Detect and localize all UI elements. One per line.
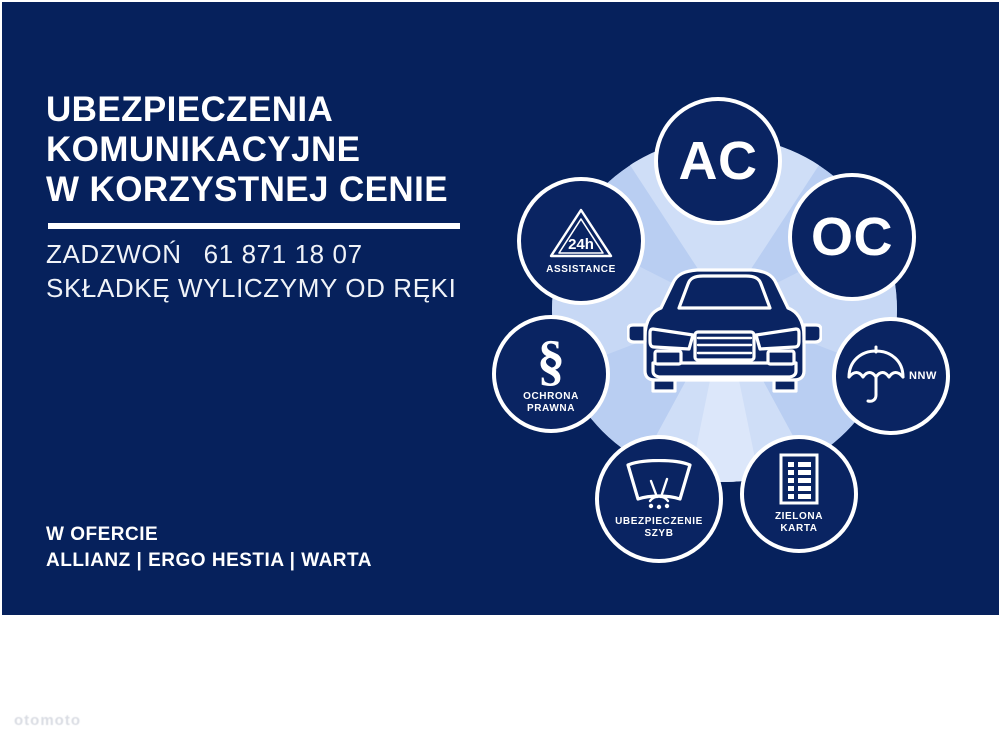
offer-title: W OFERCIE: [46, 522, 372, 548]
wiper-icon: [622, 459, 696, 511]
umbrella-icon: [845, 345, 907, 407]
call-subline: SKŁADKĘ WYLICZYMY OD RĘKI: [46, 271, 506, 305]
node-nnw-label: NNW: [909, 370, 937, 382]
offer-insurers: ALLIANZ | ERGO HESTIA | WARTA: [46, 548, 372, 574]
headline-line-2: KOMUNIKACYJNE: [46, 130, 476, 170]
headline-block: UBEZPIECZENIA KOMUNIKACYJNE W KORZYSTNEJ…: [46, 90, 476, 210]
call-to-action-block: ZADZWOŃ61 871 18 07 SKŁADKĘ WYLICZYMY OD…: [46, 237, 506, 305]
headline-divider: [48, 223, 460, 229]
node-zielona-karta-label-2: KARTA: [780, 523, 817, 535]
node-oc[interactable]: OC: [788, 173, 916, 301]
phone-number[interactable]: 61 871 18 07: [204, 239, 363, 269]
node-zielona-karta[interactable]: ZIELONA KARTA: [740, 435, 858, 553]
headline-line-1: UBEZPIECZENIA: [46, 90, 476, 130]
paragraph-icon: §: [531, 333, 571, 387]
node-nnw[interactable]: NNW: [832, 317, 950, 435]
assistance-inner-text: 24h: [568, 236, 594, 253]
svg-text:§: §: [537, 333, 565, 387]
node-oc-label: OC: [811, 210, 893, 264]
node-ochrona-prawna-label-1: OCHRONA: [523, 391, 579, 403]
node-assistance[interactable]: 24h ASSISTANCE: [517, 177, 645, 305]
node-assistance-label: ASSISTANCE: [546, 264, 616, 276]
hero-panel: UBEZPIECZENIA KOMUNIKACYJNE W KORZYSTNEJ…: [2, 2, 999, 615]
call-label: ZADZWOŃ: [46, 239, 182, 269]
node-ubezpieczenie-szyb-label-2: SZYB: [644, 528, 673, 540]
poster-root: UBEZPIECZENIA KOMUNIKACYJNE W KORZYSTNEJ…: [0, 0, 1000, 750]
node-zielona-karta-label-1: ZIELONA: [775, 511, 823, 523]
offer-block: W OFERCIE ALLIANZ | ERGO HESTIA | WARTA: [46, 522, 372, 574]
watermark: otomoto: [14, 712, 81, 729]
green-card-icon: [779, 453, 819, 505]
headline-line-3: W KORZYSTNEJ CENIE: [46, 170, 476, 210]
warning-triangle-24h-icon: 24h: [548, 207, 614, 259]
car-front-icon: [627, 267, 822, 407]
node-ochrona-prawna-label-2: PRAWNA: [527, 403, 575, 415]
node-ubezpieczenie-szyb-label-1: UBEZPIECZENIE: [615, 516, 703, 528]
node-ubezpieczenie-szyb[interactable]: UBEZPIECZENIE SZYB: [595, 435, 723, 563]
node-ac[interactable]: AC: [654, 97, 782, 225]
call-line: ZADZWOŃ61 871 18 07: [46, 237, 506, 271]
node-ac-label: AC: [679, 134, 758, 188]
node-ochrona-prawna[interactable]: § OCHRONA PRAWNA: [492, 315, 610, 433]
brand-band: Rzepecki Mroczkowski: [0, 615, 1000, 750]
insurance-wheel-graphic: AC OC NNW: [492, 77, 962, 602]
